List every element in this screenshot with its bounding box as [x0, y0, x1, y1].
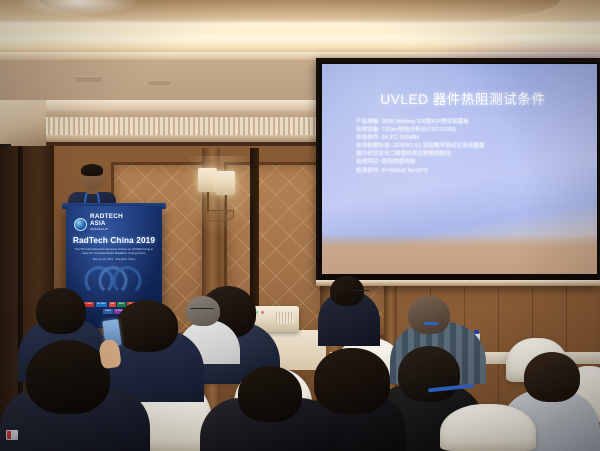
logo-text: RADTECH ASIA 2019/04/22-25	[90, 214, 123, 233]
slide-line: 检测项目: 结到焊盘热阻	[356, 158, 586, 166]
projection-screen: UVLED 器件热阻测试条件 产品规格: 3535 Molding 120度IC…	[322, 64, 597, 274]
glasses-icon	[190, 308, 214, 312]
conference-room-photo: UVLED 器件热阻测试条件 产品规格: 3535 Molding 120度IC…	[0, 0, 600, 451]
podium-date: May 13-15, 2019 · Shanghai, China	[72, 258, 156, 261]
slide-line: 检测依据标准: JESD51-51 实验数学测试方法测量基	[356, 142, 586, 150]
sponsor-logo: IGM	[109, 302, 116, 307]
logo-sub-text: ASIA	[90, 221, 123, 227]
radtech-logo: RADTECH ASIA 2019/04/22-25	[74, 216, 154, 232]
projector-vent-icon	[276, 312, 294, 324]
sconce-base	[202, 210, 234, 222]
sconce-arm	[207, 192, 209, 212]
wall-sconce	[196, 168, 242, 222]
sponsor-logo: TIANZ	[103, 309, 112, 314]
podium-subtitle: The 5th International Conference & Expo …	[72, 247, 156, 255]
attendee-head	[238, 366, 302, 422]
ceiling-downlight-icon	[18, 0, 138, 16]
slide-line: 环境条件: 24.3℃ 50%RH	[356, 134, 586, 142]
sconce-glow	[182, 156, 256, 236]
slide-line: 露冷却式发光二极管的真实热阻和阻抗	[356, 150, 586, 158]
projector-status-led-icon	[261, 311, 264, 314]
lanyard	[424, 322, 438, 325]
screen-lower-band	[322, 234, 597, 274]
attendee-head	[26, 340, 110, 414]
podium-title: RadTech China 2019	[66, 236, 162, 245]
sponsor-logo: ALLNEX	[96, 302, 107, 307]
slide-line: 检测条件: If=700mA Ta=25℃	[356, 167, 586, 175]
ceiling-vent-icon	[76, 76, 102, 82]
attendee-head	[398, 346, 460, 402]
slide-body: 产品规格: 3535 Molding 120度ICP氮化铝基板 检测设备: T3…	[356, 118, 586, 175]
logo-tagline: 2019/04/22-25	[90, 227, 123, 233]
crown-corner	[0, 100, 46, 146]
ceiling-vent-icon	[148, 80, 170, 85]
slide-line: 产品规格: 3535 Molding 120度ICP氮化铝基板	[356, 118, 586, 126]
attendee-head	[116, 300, 178, 352]
lamp-shade-icon	[216, 171, 235, 195]
attendee-head	[408, 296, 450, 334]
attendee-head-longhair	[314, 348, 390, 414]
glasses-icon	[352, 290, 370, 294]
radtech-swirl-icon	[82, 266, 146, 296]
presenter-hair	[81, 164, 103, 176]
slide-line: 检测设备: T3Ster热阻分析仪(TST12206)	[356, 126, 586, 134]
chair	[440, 404, 536, 451]
slide-title: UVLED 器件热阻测试条件	[340, 88, 586, 108]
attendee-head	[36, 288, 86, 334]
attendee-head	[524, 352, 580, 402]
globe-icon	[74, 218, 87, 231]
badge-flag-icon	[7, 431, 11, 439]
lamp-shade-icon	[198, 168, 217, 192]
presenter-ear	[100, 176, 104, 182]
